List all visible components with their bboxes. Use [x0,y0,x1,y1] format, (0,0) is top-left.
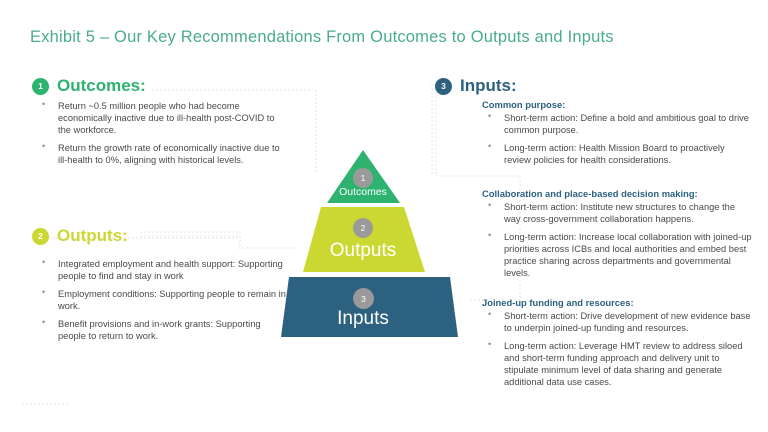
list-item: Long-term action: Increase local collabo… [482,231,754,279]
pyramid-badge-3: 3 [353,288,374,309]
bullet-list-collaboration: Short-term action: Institute new structu… [482,201,754,285]
pyramid-label-outcomes: Outcomes [313,186,413,198]
pyramid-label-inputs: Inputs [313,308,413,330]
section-title-outcomes: Outcomes: [57,76,146,96]
list-item: Short-term action: Define a bold and amb… [482,112,754,136]
list-item: Long-term action: Health Mission Board t… [482,142,754,166]
section-header-outcomes: 1 Outcomes: [32,76,146,96]
bullet-list-joined-up-funding: Short-term action: Drive development of … [482,310,754,394]
slide-canvas: Exhibit 5 – Our Key Recommendations From… [0,0,768,432]
subsection-heading-joined-up-funding: Joined-up funding and resources: [482,297,634,308]
section-badge-outcomes: 1 [32,78,49,95]
section-header-outputs: 2 Outputs: [32,226,128,246]
pyramid-badge-1: 1 [353,168,373,188]
page-title: Exhibit 5 – Our Key Recommendations From… [30,28,614,47]
section-title-inputs: Inputs: [460,76,517,96]
list-item: Employment conditions: Supporting people… [36,288,286,312]
section-badge-outputs: 2 [32,228,49,245]
pyramid-badge-2: 2 [353,218,373,238]
bullet-list-common-purpose: Short-term action: Define a bold and amb… [482,112,754,172]
subsection-heading-collaboration: Collaboration and place-based decision m… [482,188,698,199]
section-header-inputs: 3 Inputs: [435,76,517,96]
bullet-list-outputs: Integrated employment and health support… [36,258,286,348]
subsection-heading-common-purpose: Common purpose: [482,99,565,110]
connector-outputs-c [140,232,240,248]
list-item: Return ~0.5 million people who had becom… [36,100,286,136]
section-title-outputs: Outputs: [57,226,128,246]
list-item: Short-term action: Institute new structu… [482,201,754,225]
list-item: Return the growth rate of economically i… [36,142,286,166]
list-item: Long-term action: Leverage HMT review to… [482,340,754,388]
pyramid-label-outputs: Outputs [313,240,413,262]
list-item: Integrated employment and health support… [36,258,286,282]
list-item: Benefit provisions and in-work grants: S… [36,318,286,342]
list-item: Short-term action: Drive development of … [482,310,754,334]
section-badge-inputs: 3 [435,78,452,95]
bullet-list-outcomes: Return ~0.5 million people who had becom… [36,100,286,172]
